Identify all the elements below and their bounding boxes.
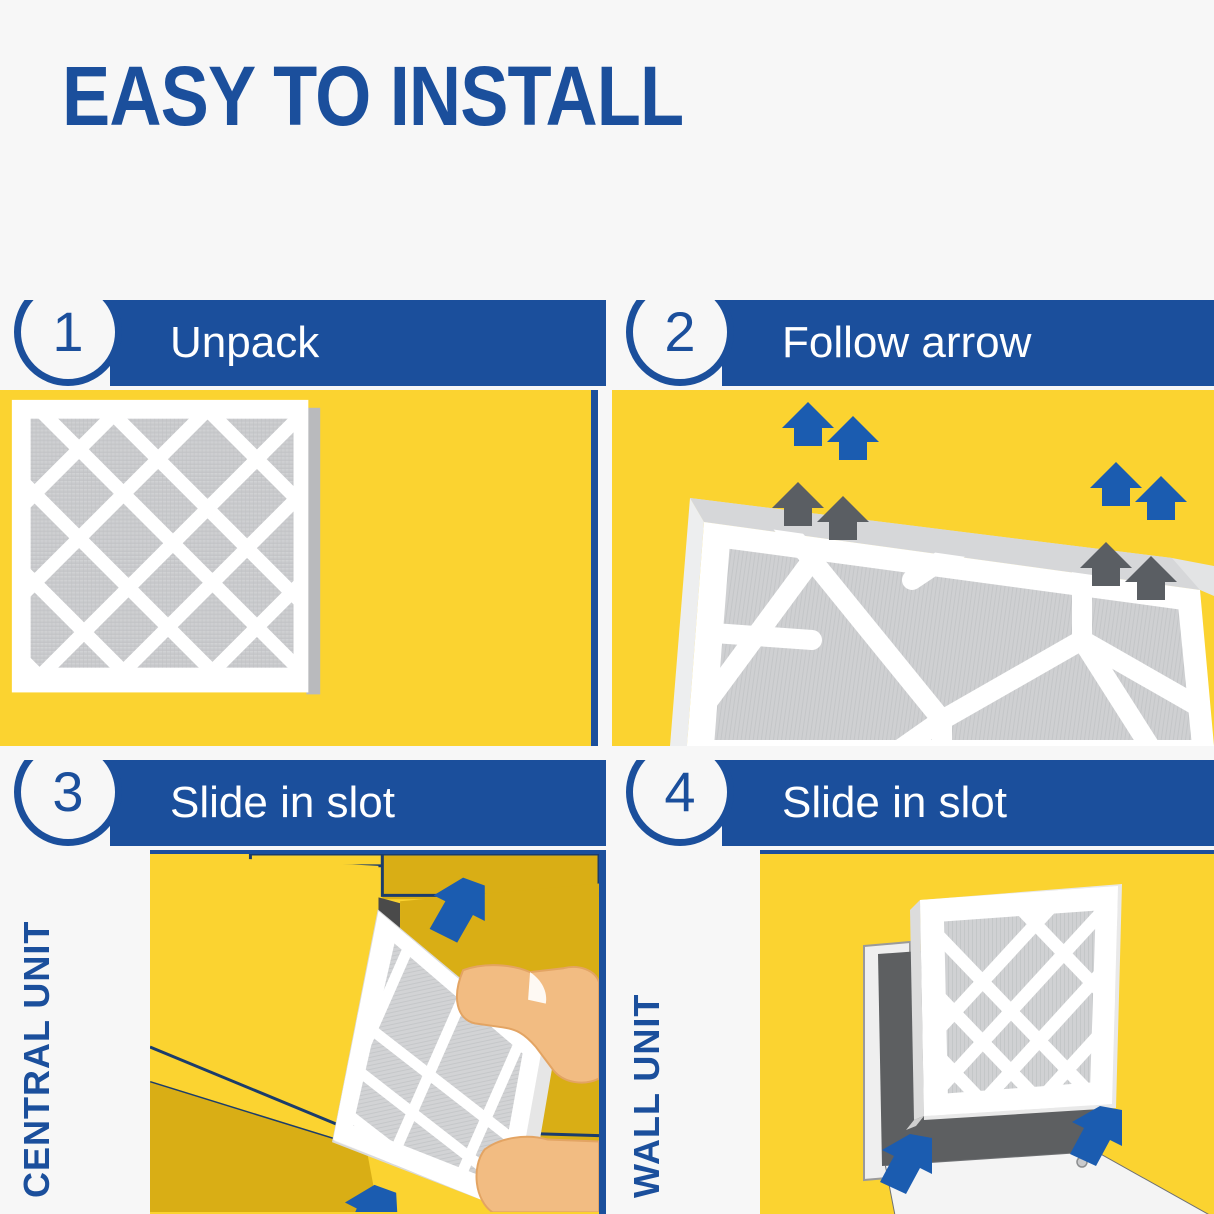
hand-lower — [476, 1137, 599, 1213]
air-filter-front-icon — [0, 390, 591, 742]
step-3-illustration-area — [150, 850, 606, 1214]
step-4-header: Slide in slot — [722, 760, 1214, 846]
step-1-label: Unpack — [170, 320, 319, 366]
step-2-number: 2 — [664, 303, 695, 361]
wall-unit-install-icon — [760, 854, 1214, 1214]
step-3-label: Slide in slot — [170, 780, 395, 826]
step-1-number: 1 — [52, 303, 83, 361]
airflow-arrow-blue-left — [782, 402, 879, 460]
step-2-badge: 2 — [626, 300, 734, 386]
airflow-arrow-blue-right — [1090, 462, 1187, 520]
step-panel-2: Follow arrow 2 — [612, 300, 1214, 746]
step-4-illustration-area — [760, 850, 1214, 1214]
step-3-header: Slide in slot — [110, 760, 606, 846]
step-panel-4: Slide in slot 4 WALL UNIT — [612, 760, 1214, 1214]
infographic-page: EASY TO INSTALL — [0, 0, 1214, 1214]
step-panel-1: Unpack 1 — [0, 300, 606, 746]
step-2-illustration-area — [612, 390, 1214, 746]
step-3-number: 3 — [52, 763, 83, 821]
step-4-label: Slide in slot — [782, 780, 1007, 826]
step-1-header: Unpack — [110, 300, 606, 386]
central-unit-install-icon — [150, 854, 599, 1212]
page-title: EASY TO INSTALL — [62, 48, 683, 144]
air-filter-tilted-icon — [612, 390, 1214, 746]
step-2-label: Follow arrow — [782, 320, 1031, 366]
step-1-badge: 1 — [14, 300, 122, 386]
step-4-badge: 4 — [626, 760, 734, 846]
step-3-side-label: CENTRAL UNIT — [16, 868, 58, 1198]
step-4-number: 4 — [664, 763, 695, 821]
step-4-side-label: WALL UNIT — [626, 868, 668, 1198]
step-3-badge: 3 — [14, 760, 122, 846]
step-1-illustration-area — [0, 390, 598, 746]
step-2-header: Follow arrow — [722, 300, 1214, 386]
step-panel-3: Slide in slot 3 CENTRAL UNIT — [0, 760, 606, 1214]
